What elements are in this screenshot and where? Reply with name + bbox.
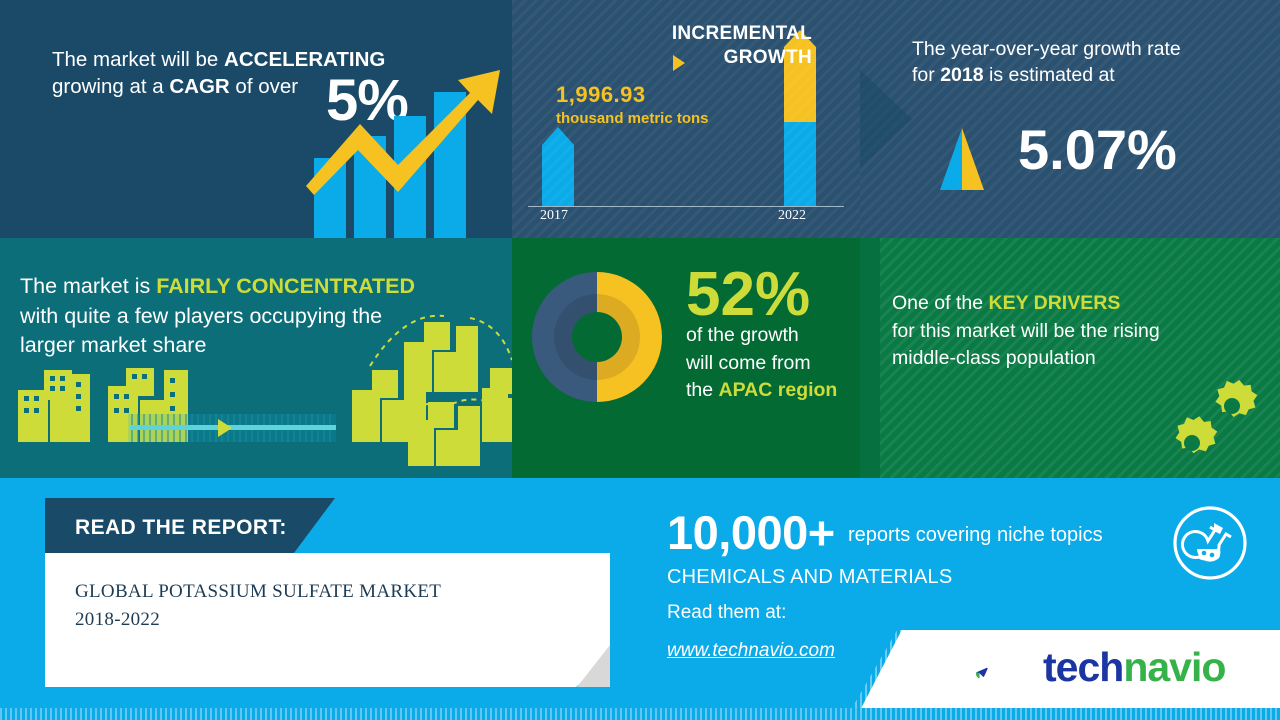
report-category: CHEMICALS AND MATERIALS [667,566,952,589]
accelerating-line2-plain-a: growing at a [52,75,169,98]
apac-share-text: of the growth will come from the APAC re… [686,322,866,405]
incremental-growth-unit: thousand metric tons [556,110,709,127]
drivers-line3: middle-class population [892,347,1096,369]
yoy-line2-plain-a: for [912,64,940,86]
concentration-text: The market is FAIRLY CONCENTRATED with q… [20,272,490,361]
yoy-line1: The year-over-year growth rate [912,38,1181,60]
reports-count-suffix: reports covering niche topics [848,524,1103,547]
technavio-wordmark: technavio [1043,644,1225,691]
bar-chart-up-arrow-icon [296,28,512,238]
footer-stripe-band [0,708,1280,720]
axis-label-end-year: 2022 [778,208,806,224]
technavio-arrow-logo-icon [975,644,1035,702]
apac-share-value: 52% [686,264,810,326]
incremental-growth-value: 1,996.93 [556,82,646,108]
technavio-url-link[interactable]: www.technavio.com [667,640,835,662]
apac-keyword: APAC region [719,379,838,401]
concentration-line2: with quite a few players occupying the [20,304,382,328]
logo-tech-part: tech [1043,644,1123,690]
reports-count: 10,000+ [667,509,835,556]
chemistry-flask-icon [1170,503,1250,583]
apac-line2: will come from [686,352,811,374]
drivers-line1-plain: One of the [892,292,988,314]
gears-icon [1170,380,1262,458]
drivers-keyword: KEY DRIVERS [988,292,1120,314]
panel-market-concentration: The market is FAIRLY CONCENTRATED with q… [0,238,512,478]
logo-navio-part: navio [1123,644,1225,690]
accelerating-line1-plain: The market will be [52,48,224,71]
yoy-text: The year-over-year growth rate for 2018 … [912,36,1242,88]
concentration-line1-plain: The market is [20,274,156,298]
yoy-line2-plain-b: is estimated at [984,64,1115,86]
incremental-growth-heading: INCREMENTAL GROWTH [522,22,812,71]
infographic-canvas: The market will be ACCELERATING growing … [0,0,1280,720]
yoy-value: 5.07% [1018,122,1177,178]
triangle-up-icon [930,128,994,190]
play-triangle-icon [673,55,685,71]
read-the-report-label: READ THE REPORT: [75,516,287,540]
growth-axis-line [528,206,844,207]
apac-line3-plain: the [686,379,719,401]
read-them-at-label: Read them at: [667,602,786,624]
concentration-keyword: FAIRLY CONCENTRATED [156,274,415,298]
panel-market-accelerating: The market will be ACCELERATING growing … [0,0,512,238]
donut-chart-icon [528,268,666,406]
apac-line1: of the growth [686,324,799,346]
report-title-line2: 2018-2022 [75,609,160,630]
accelerating-line2-plain-b: of over [230,75,298,98]
key-drivers-text: One of the KEY DRIVERS for this market w… [892,290,1222,373]
drivers-line2: for this market will be the rising [892,320,1160,342]
concentration-line3: larger market share [20,333,206,357]
yoy-year: 2018 [940,64,983,86]
incremental-growth-line2: GROWTH [724,47,812,68]
report-title-line1: GLOBAL POTASSIUM SULFATE MARKET [75,581,441,602]
axis-label-start-year: 2017 [540,208,568,224]
report-title: GLOBAL POTASSIUM SULFATE MARKET 2018-202… [75,578,545,633]
cagr-keyword: CAGR [169,75,229,98]
incremental-growth-line1: INCREMENTAL [672,23,812,44]
